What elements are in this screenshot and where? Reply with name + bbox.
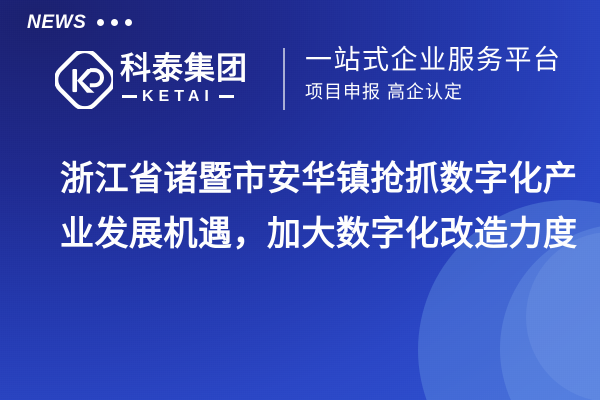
brand-name-en-row: KETAI bbox=[120, 89, 248, 105]
ketai-kp-diamond-logo-icon bbox=[55, 51, 113, 109]
tagline-primary: 一站式企业服务平台 bbox=[305, 45, 562, 76]
news-dot-icon bbox=[111, 19, 118, 26]
news-banner: NEWS 科泰集团 KETAI bbox=[0, 0, 600, 400]
headline-line-2: 业发展机遇，加大数字化改造力度 bbox=[60, 207, 550, 262]
brand-lockup: 科泰集团 KETAI bbox=[55, 44, 248, 114]
news-dot-icon bbox=[97, 19, 104, 26]
news-dot-icon bbox=[125, 19, 132, 26]
brand-rule-left-icon bbox=[122, 95, 137, 98]
news-dots-icon bbox=[97, 19, 132, 26]
brand-text-block: 科泰集团 KETAI bbox=[120, 53, 248, 105]
headline: 浙江省诸暨市安华镇抢抓数字化产 业发展机遇，加大数字化改造力度 bbox=[60, 152, 550, 262]
tagline-block: 一站式企业服务平台 项目申报 高企认定 bbox=[305, 45, 562, 104]
news-strip: NEWS bbox=[27, 13, 132, 32]
brand-name-cn: 科泰集团 bbox=[120, 53, 248, 86]
brand-rule-right-icon bbox=[219, 95, 234, 98]
headline-line-1: 浙江省诸暨市安华镇抢抓数字化产 bbox=[60, 152, 550, 207]
news-label: NEWS bbox=[27, 13, 86, 32]
brand-divider bbox=[283, 48, 285, 110]
brand-name-en: KETAI bbox=[142, 89, 214, 105]
tagline-secondary: 项目申报 高企认定 bbox=[305, 82, 562, 104]
